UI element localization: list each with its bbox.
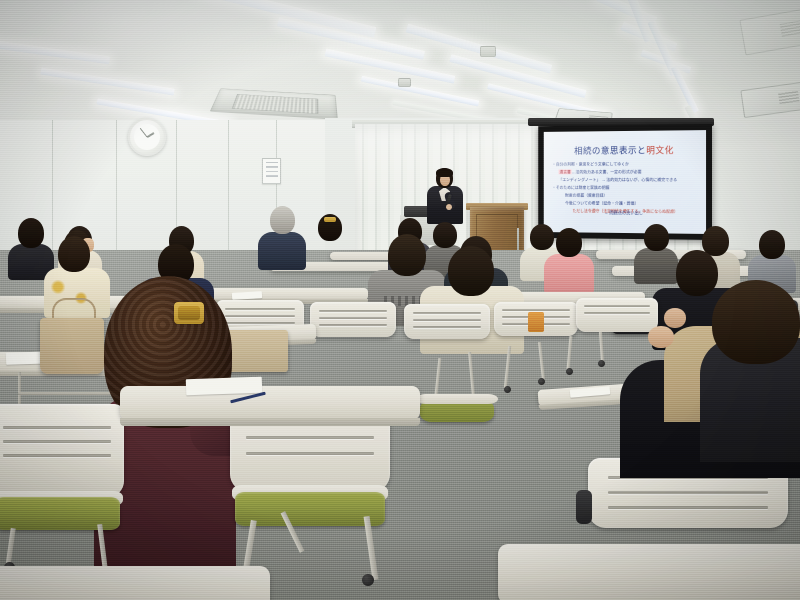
chair-backrest <box>404 304 490 339</box>
attendee-hand <box>648 326 674 348</box>
attendee-hand <box>664 308 686 328</box>
wall-clock <box>128 118 166 156</box>
slide-line: 「エンディングノート」 → 法的効力はないが、心情的に補完できる <box>552 176 699 184</box>
slide-body: ・自分の判断・意思をどう文章にしてゆくか 遺言書…法的効力ある文書、一定の形式が… <box>552 160 699 216</box>
attendee-head <box>270 206 295 234</box>
presenter <box>424 168 466 223</box>
attendee-head <box>18 218 44 248</box>
chair-seat-rim <box>416 394 498 404</box>
chair-backrest <box>310 302 396 337</box>
attendee-head <box>448 246 494 296</box>
attendee-head <box>712 280 800 364</box>
chair-seat <box>235 492 385 526</box>
lecture-hall-photo: 相続の意思表示と明文化 ・自分の判断・意思をどう文章にしてゆくか 遺言書…法的効… <box>0 0 800 600</box>
slide-title: 相続の意思表示と明文化 <box>544 143 706 157</box>
chair-caster <box>362 574 374 586</box>
slide-footer: → 問題点の洗い出し <box>544 210 706 217</box>
projection-screen: 相続の意思表示と明文化 ・自分の判断・意思をどう文章にしてゆくか 遺言書…法的効… <box>538 124 712 240</box>
chair-caster <box>566 368 573 375</box>
backrest-slots <box>413 312 482 333</box>
orange-packet <box>528 312 544 332</box>
slide-line: 遺言書…法的効力ある文書、一定の形式が必要 <box>552 168 699 176</box>
seminar-desk <box>0 566 270 600</box>
attendee-torso <box>308 238 352 274</box>
attendee-head <box>759 230 785 259</box>
projection-screen-surface: 相続の意思表示と明文化 ・自分の判断・意思をどう文章にしてゆくか 遺言書…法的効… <box>544 130 706 234</box>
hair-clip <box>324 217 336 222</box>
attendee-torso <box>258 232 306 270</box>
backrest-slots <box>319 310 388 331</box>
gold-hair-clip-detail <box>178 306 200 320</box>
handout-sheet <box>186 377 263 396</box>
attendee-torso <box>544 254 594 294</box>
presenter-hair <box>436 168 453 177</box>
desk-edge <box>120 418 420 426</box>
wall-notice <box>262 158 281 184</box>
attendee-pink-shirt <box>544 228 594 290</box>
slide-title-accent: 明文化 <box>646 145 674 155</box>
attendee-navy-jacket <box>308 214 352 272</box>
backrest-slots <box>608 476 768 518</box>
attendee-gray-hair <box>258 206 306 268</box>
presenter-hand <box>446 204 452 210</box>
chair-caster <box>538 378 545 385</box>
chair-caster <box>598 360 605 367</box>
classroom-chair[interactable] <box>404 304 490 364</box>
backrest-slots <box>246 420 374 476</box>
attendee-head <box>556 228 582 257</box>
attendee-right-foreground <box>700 280 800 460</box>
slide-line-cont: …法的効力ある文書、一定の形式が必要 <box>572 169 642 174</box>
chair-arm-bracket <box>576 490 592 524</box>
classroom-chair[interactable] <box>310 302 396 362</box>
seminar-desk <box>120 386 420 420</box>
attendee-head <box>644 224 669 251</box>
slide-line-boxed: 遺言書 <box>559 169 572 174</box>
chair-backrest <box>0 404 124 497</box>
backrest-slots <box>3 426 110 482</box>
slide-line: ・そのためには財産と家族の把握 <box>552 184 699 192</box>
blouse-floral-pattern <box>50 280 66 294</box>
chair-caster <box>504 386 511 393</box>
classroom-chair[interactable] <box>0 404 124 554</box>
seminar-desk <box>498 544 800 600</box>
slide-title-main: 相続の意思表示と <box>574 146 646 156</box>
attendee-head <box>58 236 90 272</box>
